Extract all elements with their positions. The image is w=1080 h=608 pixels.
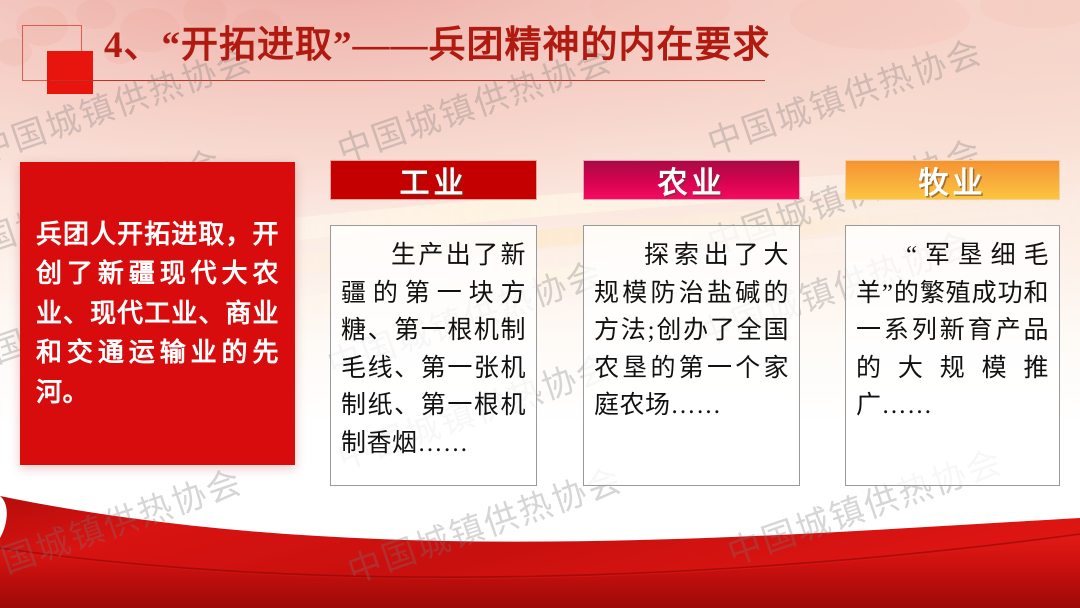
column-body-husbandry: “军垦细毛羊”的繁殖成功和一系列新育产品的大规模推广…… xyxy=(845,225,1060,486)
title-underline xyxy=(50,80,765,81)
column-body-industry: 生产出了新疆的第一块方糖、第一根机制毛线、第一张机制纸、第一根机制香烟…… xyxy=(330,225,537,486)
page-title: 4、“开拓进取”——兵团精神的内在要求 xyxy=(104,14,771,68)
column-header-husbandry: 牧业 xyxy=(845,160,1060,200)
column-body-text-agriculture: 探索出了大规模防治盐碱的方法;创办了全国农垦的第一个家庭农场…… xyxy=(594,237,789,425)
bottom-red-wave xyxy=(0,478,1080,608)
decorative-square-solid xyxy=(47,51,93,94)
slide-canvas: 中国城镇供热协会 中国城镇供热协会 中国城镇供热协会 中国城镇供热协会 中国城镇… xyxy=(0,0,1080,608)
column-body-agriculture: 探索出了大规模防治盐碱的方法;创办了全国农垦的第一个家庭农场…… xyxy=(583,225,800,486)
column-body-text-industry: 生产出了新疆的第一块方糖、第一根机制毛线、第一张机制纸、第一根机制香烟…… xyxy=(341,237,526,462)
summary-panel: 兵团人开拓进取，开创了新疆现代大农业、现代工业、商业和交通运输业的先河。 xyxy=(20,162,295,465)
column-header-agriculture: 农业 xyxy=(583,160,800,200)
column-header-industry: 工业 xyxy=(330,160,537,200)
column-agriculture: 农业 探索出了大规模防治盐碱的方法;创办了全国农垦的第一个家庭农场…… xyxy=(583,160,800,486)
summary-panel-text: 兵团人开拓进取，开创了新疆现代大农业、现代工业、商业和交通运输业的先河。 xyxy=(36,215,279,413)
column-husbandry: 牧业 “军垦细毛羊”的繁殖成功和一系列新育产品的大规模推广…… xyxy=(845,160,1060,486)
column-industry: 工业 生产出了新疆的第一块方糖、第一根机制毛线、第一张机制纸、第一根机制香烟…… xyxy=(330,160,537,486)
column-body-text-husbandry: “军垦细毛羊”的繁殖成功和一系列新育产品的大规模推广…… xyxy=(856,237,1049,425)
